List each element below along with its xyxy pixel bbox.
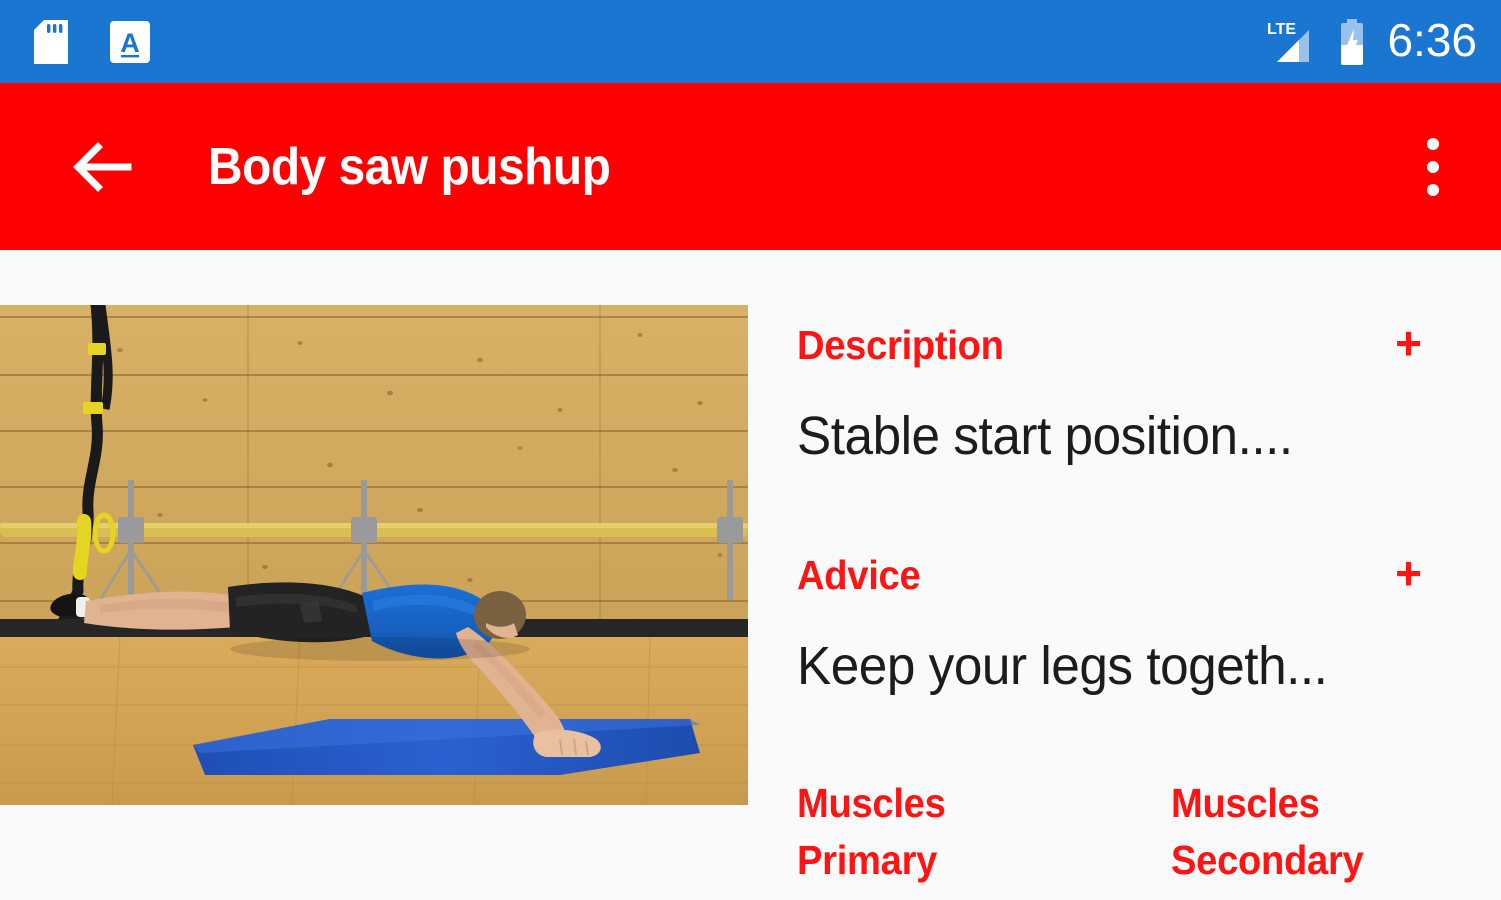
sd-card-icon [34, 20, 68, 64]
status-bar-clock: 6:36 [1387, 17, 1477, 66]
overflow-dot [1427, 184, 1439, 196]
battery-charging-icon [1337, 19, 1367, 65]
svg-text:A: A [120, 28, 140, 58]
exercise-details: Description + Stable start position.... … [793, 250, 1501, 900]
section-header-advice[interactable]: Advice + [797, 552, 1422, 599]
back-arrow-icon [70, 136, 132, 198]
muscles-primary-line1: Muscles [797, 775, 1132, 832]
page-title: Body saw pushup [208, 137, 610, 197]
section-header-description[interactable]: Description + [797, 322, 1422, 369]
status-bar-left-icons: A [34, 20, 150, 64]
overflow-menu-icon[interactable] [1395, 124, 1471, 210]
section-preview-advice[interactable]: Keep your legs togeth... [797, 635, 1462, 697]
muscles-secondary-line2: Secondary [1171, 832, 1478, 889]
app-screen: A LTE 6:36 [0, 0, 1501, 900]
status-bar-right-icons: LTE 6:36 [1265, 16, 1477, 68]
status-bar: A LTE 6:36 [0, 0, 1501, 83]
muscles-primary-line2: Primary [797, 832, 1132, 889]
expand-plus-icon[interactable]: + [1395, 325, 1422, 362]
back-button[interactable] [62, 128, 140, 206]
app-bar: Body saw pushup [0, 83, 1501, 250]
expand-plus-icon[interactable]: + [1395, 555, 1422, 592]
exercise-photo[interactable] [0, 305, 748, 805]
keyboard-language-icon: A [110, 21, 150, 63]
signal-bars-icon: LTE [1265, 16, 1317, 68]
section-title-advice: Advice [797, 552, 920, 599]
muscles-secondary-line1: Muscles [1171, 775, 1478, 832]
muscles-secondary-heading[interactable]: Muscles Secondary [1171, 775, 1478, 888]
content-area: Description + Stable start position.... … [0, 250, 1501, 900]
svg-text:LTE: LTE [1267, 21, 1296, 38]
overflow-dot [1427, 161, 1439, 173]
overflow-dot [1427, 138, 1439, 150]
muscles-primary-heading[interactable]: Muscles Primary [797, 775, 1132, 888]
section-title-description: Description [797, 322, 1004, 369]
section-preview-description[interactable]: Stable start position.... [797, 405, 1462, 467]
